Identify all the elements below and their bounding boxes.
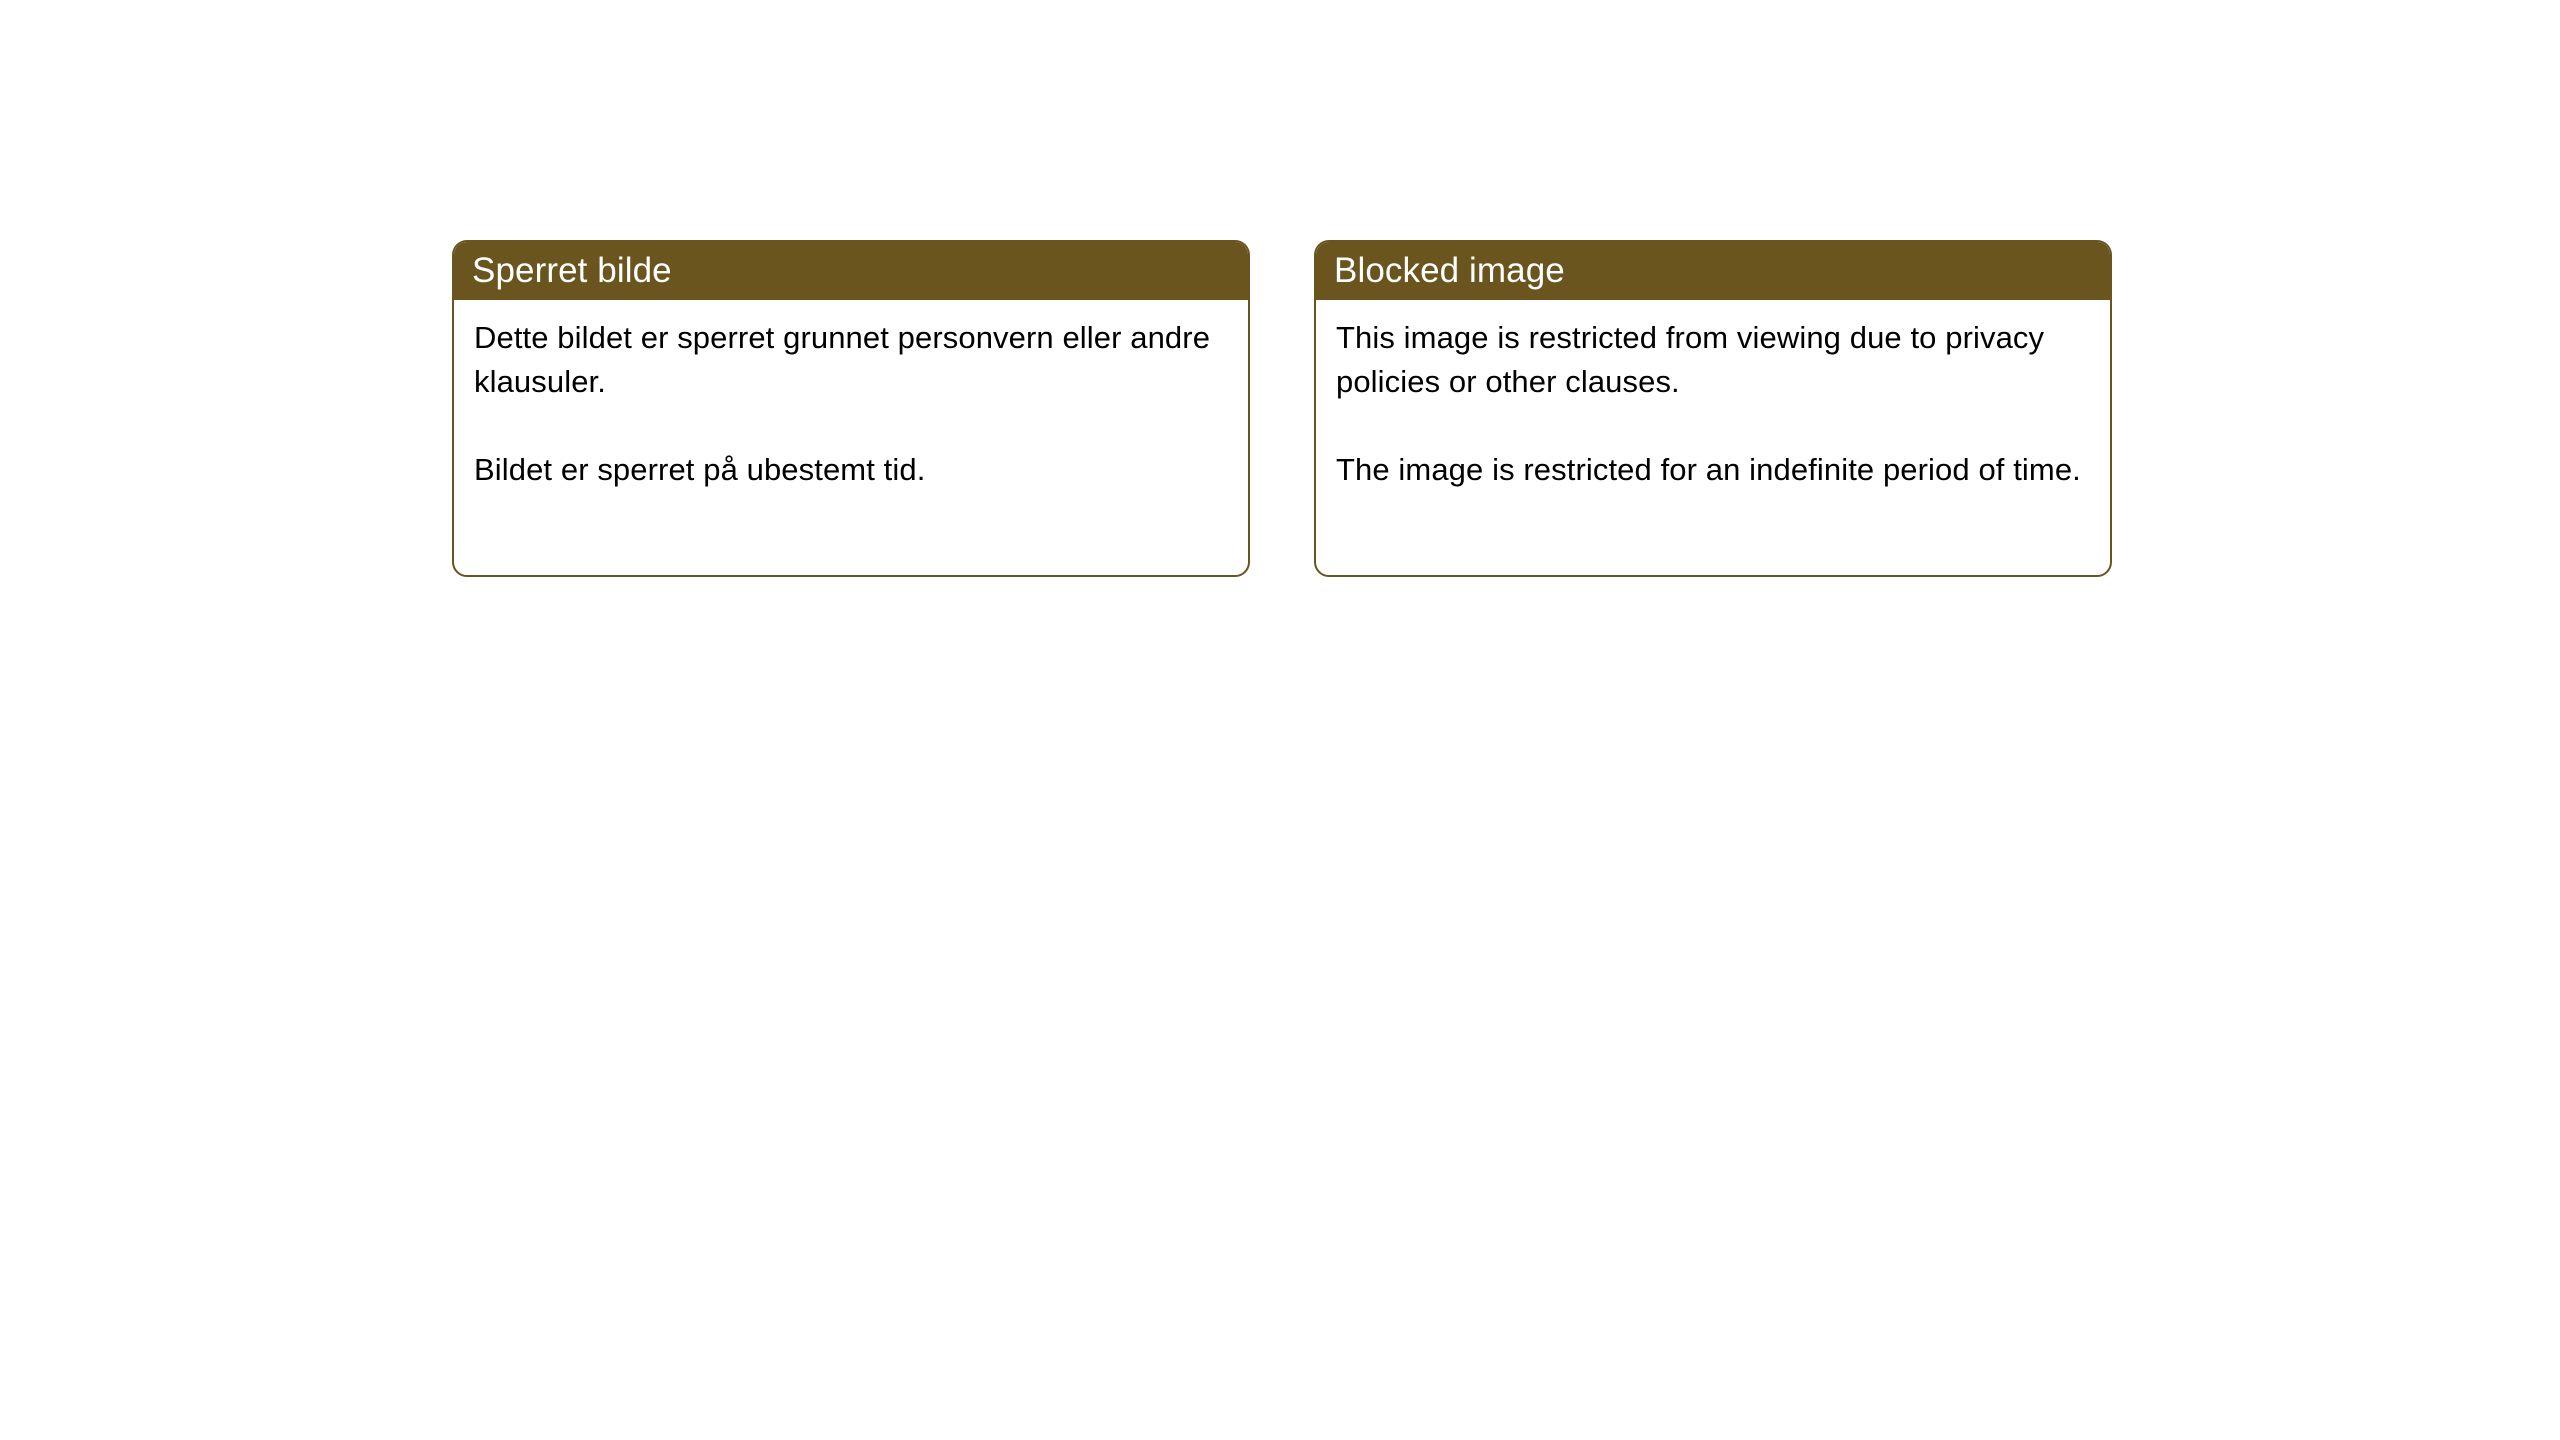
card-body-norwegian: Dette bildet er sperret grunnet personve… (454, 300, 1248, 575)
blocked-image-card-norwegian: Sperret bilde Dette bildet er sperret gr… (452, 240, 1250, 577)
blocked-image-notice-group: Sperret bilde Dette bildet er sperret gr… (452, 240, 2112, 577)
card-paragraph-duration-english: The image is restricted for an indefinit… (1336, 448, 2090, 492)
card-paragraph-reason-norwegian: Dette bildet er sperret grunnet personve… (474, 316, 1228, 404)
card-paragraph-duration-norwegian: Bildet er sperret på ubestemt tid. (474, 448, 1228, 492)
page-root: Sperret bilde Dette bildet er sperret gr… (0, 0, 2560, 1440)
card-paragraph-reason-english: This image is restricted from viewing du… (1336, 316, 2090, 404)
card-header-norwegian: Sperret bilde (452, 240, 1250, 300)
card-title-english: Blocked image (1334, 253, 1565, 288)
card-body-english: This image is restricted from viewing du… (1316, 300, 2110, 575)
card-header-english: Blocked image (1314, 240, 2112, 300)
blocked-image-card-english: Blocked image This image is restricted f… (1314, 240, 2112, 577)
card-title-norwegian: Sperret bilde (472, 253, 672, 288)
